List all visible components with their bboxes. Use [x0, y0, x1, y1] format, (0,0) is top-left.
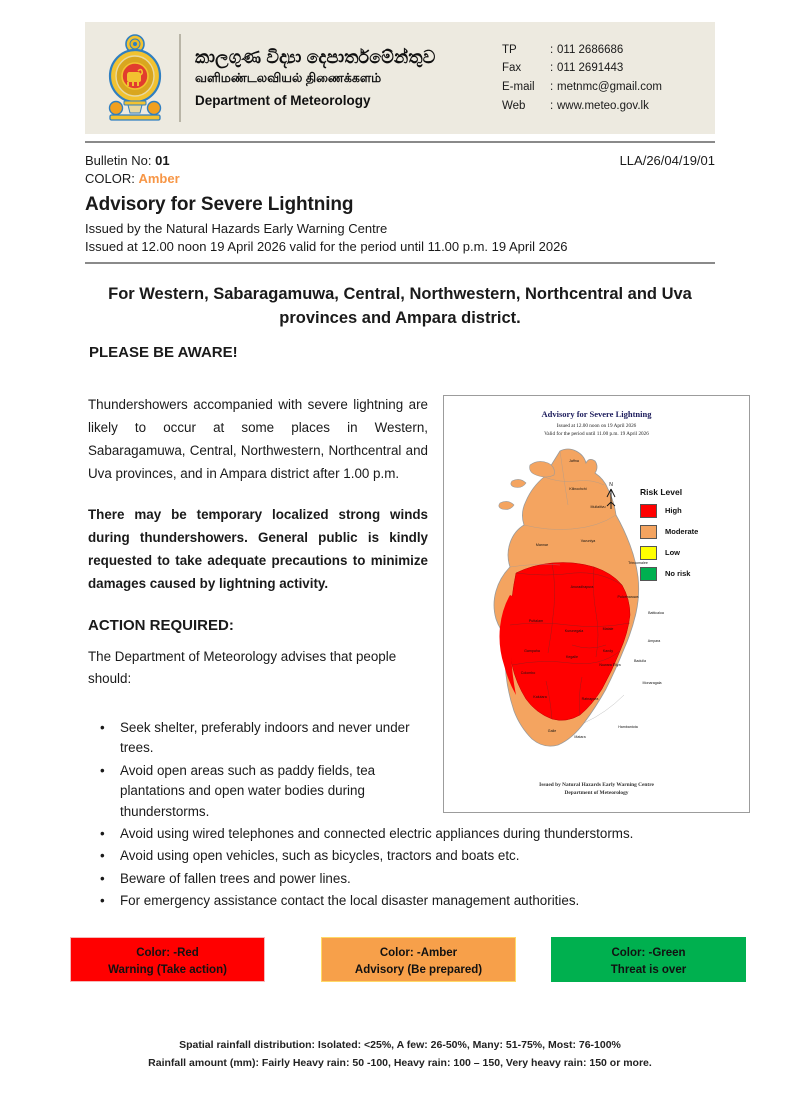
bullet-dot-icon: •	[100, 761, 105, 781]
issued-by-line: Issued by the Natural Hazards Early Warn…	[85, 221, 715, 236]
list-item: • Seek shelter, preferably indoors and n…	[88, 718, 436, 759]
map-subtitle: Issued at 12.00 noon on 19 April 2026 Va…	[444, 423, 749, 439]
contact-label-tp: TP	[502, 41, 550, 60]
footer-line-rainfall: Rainfall amount (mm): Fairly Heavy rain:…	[85, 1054, 715, 1072]
bulletin-number-label: Bulletin No:	[85, 153, 151, 168]
legend-row-norisk: No risk	[640, 567, 744, 581]
map-district-label: Ampara	[648, 639, 661, 643]
header-rule	[85, 141, 715, 143]
color-key-amber-line2: Advisory (Be prepared)	[322, 962, 515, 979]
contact-details: TP : 011 2686686 Fax : 011 2691443 E-mai…	[502, 41, 715, 116]
org-name-english: Department of Meteorology	[195, 93, 502, 109]
compass-north-icon: N	[602, 483, 620, 512]
map-title: Advisory for Severe Lightning	[444, 409, 749, 419]
contact-label-email: E-mail	[502, 78, 550, 97]
map-credit-line1: Issued by Natural Hazards Early Warning …	[444, 781, 749, 790]
list-item-text: For emergency assistance contact the loc…	[120, 893, 579, 908]
paragraph-warning: There may be temporary localized strong …	[88, 503, 428, 595]
map-legend: Risk Level High Moderate Low No risk	[640, 487, 744, 588]
map-district-label: Monaragala	[643, 681, 662, 685]
color-key-amber: Color: -Amber Advisory (Be prepared)	[321, 937, 516, 982]
footer-notes: Spatial rainfall distribution: Isolated:…	[85, 1036, 715, 1073]
map-district-label: Badulla	[634, 659, 646, 663]
bulletin-number-value: 01	[155, 153, 169, 168]
color-key-green-line2: Threat is over	[552, 962, 745, 979]
legend-swatch-high	[640, 504, 657, 518]
legend-row-moderate: Moderate	[640, 525, 744, 539]
map-subtitle-line1: Issued at 12.00 noon on 19 April 2026	[444, 423, 749, 431]
map-credit-line2: Department of Meteorology	[444, 789, 749, 798]
scope-heading: For Western, Sabaragamuwa, Central, Nort…	[95, 283, 705, 331]
contact-sep-fax: :	[550, 59, 557, 78]
bulletin-meta: Bulletin No: 01 LLA/26/04/19/01 COLOR: A…	[85, 153, 715, 254]
contact-value-fax: 011 2691443	[557, 59, 707, 78]
bulletin-color-value: Amber	[138, 171, 179, 186]
map-district-label: Matale	[603, 627, 614, 631]
organization-names: කාලගුණ විද්‍යා දෙපාර්තමේන්තුව வளிமண்டலவி…	[195, 47, 502, 109]
contact-label-fax: Fax	[502, 59, 550, 78]
contact-row-email: E-mail : metnmc@gmail.com	[502, 78, 707, 97]
contact-row-web: Web : www.meteo.gov.lk	[502, 97, 707, 116]
please-be-aware-heading: PLEASE BE AWARE!	[89, 344, 238, 361]
bulletin-reference: LLA/26/04/19/01	[620, 153, 715, 168]
contact-value-email[interactable]: metnmc@gmail.com	[557, 78, 707, 97]
color-key-green-line1: Color: -Green	[552, 945, 745, 962]
org-name-tamil: வளிமண்டலவியல் திணைக்களம்	[195, 71, 502, 86]
contact-row-tp: TP : 011 2686686	[502, 41, 707, 60]
bulletin-color-label: COLOR:	[85, 171, 135, 186]
action-required-intro: The Department of Meteorology advises th…	[88, 646, 428, 689]
page-title: Advisory for Severe Lightning	[85, 194, 715, 216]
legend-swatch-norisk	[640, 567, 657, 581]
bullet-dot-icon: •	[100, 824, 105, 844]
map-district-label: Ratnapura	[582, 697, 599, 701]
legend-label-moderate: Moderate	[665, 527, 698, 536]
contact-value-tp: 011 2686686	[557, 41, 707, 60]
contact-value-web[interactable]: www.meteo.gov.lk	[557, 97, 707, 116]
list-item: • For emergency assistance contact the l…	[88, 891, 713, 911]
bullet-dot-icon: •	[100, 718, 105, 738]
letterhead: කාලගුණ විද්‍යා දෙපාර්තමේන්තුව வளிமண்டலவி…	[85, 22, 715, 134]
map-district-label: Jaffna	[569, 459, 579, 463]
bullet-dot-icon: •	[100, 846, 105, 866]
map-district-label: Colombo	[521, 671, 535, 675]
legend-label-low: Low	[665, 548, 680, 557]
map-credit: Issued by Natural Hazards Early Warning …	[444, 781, 749, 798]
map-district-label: Nuwara Eliya	[599, 663, 620, 667]
map-district-label: Kegalle	[566, 655, 578, 659]
map-district-label: Anuradhapura	[571, 585, 594, 589]
footer-line-spatial: Spatial rainfall distribution: Isolated:…	[85, 1036, 715, 1054]
map-canvas: Jaffna Kilinochchi Mullaitivu Mannar Vav…	[444, 439, 749, 769]
legend-swatch-moderate	[640, 525, 657, 539]
color-key-red: Color: -Red Warning (Take action)	[70, 937, 265, 982]
list-item: • Avoid using open vehicles, such as bic…	[88, 846, 713, 866]
map-district-label: Matara	[574, 735, 585, 739]
contact-label-web: Web	[502, 97, 550, 116]
header-divider	[179, 34, 181, 122]
bullet-dot-icon: •	[100, 891, 105, 911]
color-key-red-line1: Color: -Red	[71, 945, 264, 962]
legend-label-high: High	[665, 506, 682, 515]
list-item-text: Avoid open areas such as paddy fields, t…	[120, 763, 375, 819]
legend-swatch-low	[640, 546, 657, 560]
sri-lanka-national-emblem-icon	[99, 30, 171, 126]
list-item-text: Seek shelter, preferably indoors and nev…	[120, 720, 410, 755]
contact-sep-web: :	[550, 97, 557, 116]
map-district-label: Batticaloa	[648, 611, 664, 615]
contact-row-fax: Fax : 011 2691443	[502, 59, 707, 78]
map-district-label: Galle	[548, 729, 556, 733]
list-item-text: Avoid using wired telephones and connect…	[120, 826, 633, 841]
map-district-label: Mannar	[536, 543, 548, 547]
map-district-label: Gampaha	[524, 649, 540, 653]
color-key-amber-line1: Color: -Amber	[322, 945, 515, 962]
contact-sep-email: :	[550, 78, 557, 97]
meta-rule	[85, 262, 715, 264]
map-district-label: Puttalam	[529, 619, 543, 623]
bulletin-number: Bulletin No: 01	[85, 153, 170, 168]
bulletin-number-row: Bulletin No: 01 LLA/26/04/19/01	[85, 153, 715, 168]
action-required-heading: ACTION REQUIRED:	[88, 617, 428, 634]
color-key-green: Color: -Green Threat is over	[551, 937, 746, 982]
map-district-label: Vavuniya	[581, 539, 596, 543]
body-column: Thundershowers accompanied with severe l…	[88, 393, 428, 689]
map-district-label: Kalutara	[533, 695, 546, 699]
map-district-label: Kandy	[603, 649, 613, 653]
sri-lanka-map-shape	[456, 445, 656, 765]
map-district-label: Kilinochchi	[569, 487, 586, 491]
map-subtitle-line2: Valid for the period until 11.00 p.m. 19…	[444, 431, 749, 439]
list-item-text: Beware of fallen trees and power lines.	[120, 871, 351, 886]
map-district-label: Kurunegala	[565, 629, 583, 633]
list-item-text: Avoid using open vehicles, such as bicyc…	[120, 848, 519, 863]
legend-row-high: High	[640, 504, 744, 518]
legend-title: Risk Level	[640, 487, 744, 497]
paragraph-forecast: Thundershowers accompanied with severe l…	[88, 393, 428, 485]
bullet-dot-icon: •	[100, 869, 105, 889]
map-district-label: Polonnaruwa	[618, 595, 639, 599]
risk-map-figure: Advisory for Severe Lightning Issued at …	[443, 395, 750, 813]
color-key-red-line2: Warning (Take action)	[71, 962, 264, 979]
list-item: • Avoid using wired telephones and conne…	[88, 824, 713, 844]
list-item: • Avoid open areas such as paddy fields,…	[88, 761, 436, 822]
validity-line: Issued at 12.00 noon 19 April 2026 valid…	[85, 239, 715, 254]
bulletin-color-row: COLOR: Amber	[85, 171, 715, 186]
org-name-sinhala: කාලගුණ විද්‍යා දෙපාර්තමේන්තුව	[195, 47, 502, 68]
contact-sep-tp: :	[550, 41, 557, 60]
map-district-label: Hambantota	[618, 725, 638, 729]
legend-row-low: Low	[640, 546, 744, 560]
legend-label-norisk: No risk	[665, 569, 690, 578]
list-item: • Beware of fallen trees and power lines…	[88, 869, 713, 889]
